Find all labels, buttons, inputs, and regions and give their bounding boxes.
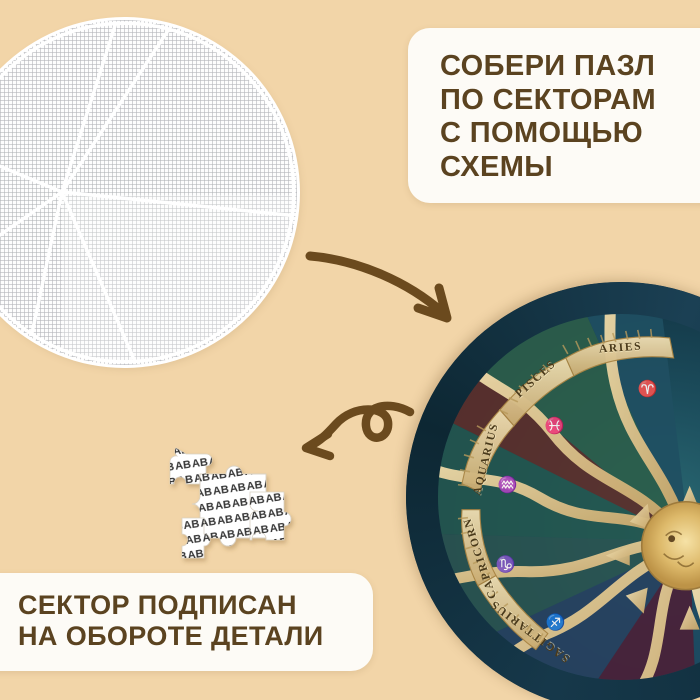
assembly-instruction-box: Собери пазл по секторам с помощью схемы xyxy=(408,28,700,203)
blank-puzzle-circle xyxy=(0,20,297,365)
caption-top-line-3: с помощью xyxy=(440,117,700,151)
zodiac-puzzle-wheel: ♈ ♓ ♒ ♑ ♐ xyxy=(406,282,700,700)
caption-top-line-1: Собери пазл xyxy=(440,50,700,84)
wheel-artwork: ♈ ♓ ♒ ♑ ♐ xyxy=(438,314,700,680)
puzzle-sector-lines xyxy=(0,20,297,365)
sector-label-instruction-box: Сектор подписан на обороте детали xyxy=(0,573,373,671)
caption-top-line-4: схемы xyxy=(440,151,700,185)
caption-top-line-2: по секторам xyxy=(440,84,700,118)
glyph-aquarius: ♒ xyxy=(498,475,518,494)
loose-puzzle-pieces: AB xyxy=(172,444,290,560)
caption-bottom-line-1: Сектор подписан xyxy=(18,590,355,621)
promo-canvas: ♈ ♓ ♒ ♑ ♐ xyxy=(0,0,700,700)
zodiac-label-aries: ARIES xyxy=(599,340,643,355)
caption-bottom-line-2: на обороте детали xyxy=(18,621,355,652)
wheel-illustration: ♈ ♓ ♒ ♑ ♐ xyxy=(438,314,700,680)
glyph-sagittarius: ♐ xyxy=(546,613,566,632)
glyph-pisces: ♓ xyxy=(545,416,565,435)
glyph-aries: ♈ xyxy=(638,379,658,398)
glyph-capricorn: ♑ xyxy=(496,555,516,574)
arrow-to-pieces xyxy=(292,396,422,476)
loose-pieces-art: AB xyxy=(172,444,290,560)
arrow-to-wheel xyxy=(300,238,470,328)
